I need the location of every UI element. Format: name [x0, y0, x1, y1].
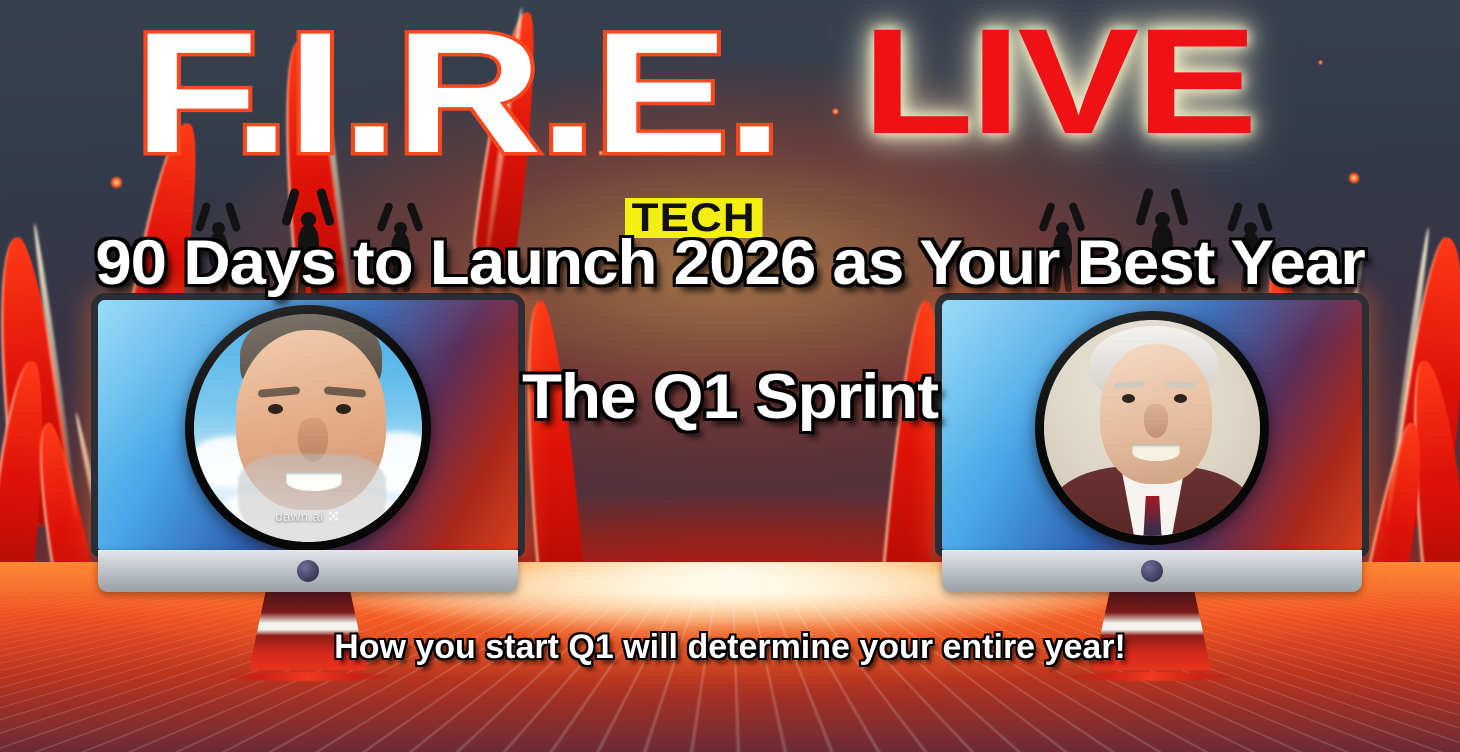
brand-title-fire: F.I.R.E.: [134, 14, 780, 172]
monitor-base-right: [1072, 672, 1232, 681]
portrait-watermark-left: dawn.ai: [275, 509, 340, 524]
portrait-mouth: [286, 472, 342, 491]
ember-spark: [1318, 60, 1323, 65]
cloud-shape: [188, 436, 274, 488]
monitor-logo-icon: [297, 560, 319, 582]
cloud-shape: [344, 432, 431, 492]
silhouette-arm-left: [1135, 187, 1154, 226]
monitor-chin-left: [98, 550, 518, 592]
ember-spark: [1348, 172, 1360, 184]
live-badge: LIVE: [862, 12, 1254, 150]
watermark-text: dawn.ai: [275, 509, 323, 524]
portrait-tie: [1142, 496, 1163, 545]
portrait-shirt: [1122, 472, 1184, 545]
monitor-right: [942, 300, 1362, 681]
ember-spark: [832, 108, 839, 115]
promo-banner: dawn.ai: [0, 0, 1460, 752]
silhouette-arm-left: [281, 187, 300, 226]
ember-spark: [110, 176, 123, 189]
monitor-logo-icon: [1141, 560, 1163, 582]
monitor-chin-right: [942, 550, 1362, 592]
monitor-base-left: [228, 672, 388, 681]
monitor-left: dawn.ai: [98, 300, 518, 681]
portrait-beard: [238, 454, 386, 550]
watermark-logo-icon: [329, 511, 341, 523]
portrait-mouth: [1132, 444, 1180, 461]
flame-shape: [514, 299, 586, 602]
portrait-suit: [1050, 466, 1254, 545]
subheadline: The Q1 Sprint: [0, 366, 1460, 429]
cloud-shape: [218, 482, 398, 550]
tagline: How you start Q1 will determine your ent…: [0, 630, 1460, 664]
headline: 90 Days to Launch 2026 as Your Best Year: [0, 232, 1460, 295]
silhouette-arm-right: [316, 187, 335, 226]
silhouette-arm-right: [1170, 187, 1189, 226]
